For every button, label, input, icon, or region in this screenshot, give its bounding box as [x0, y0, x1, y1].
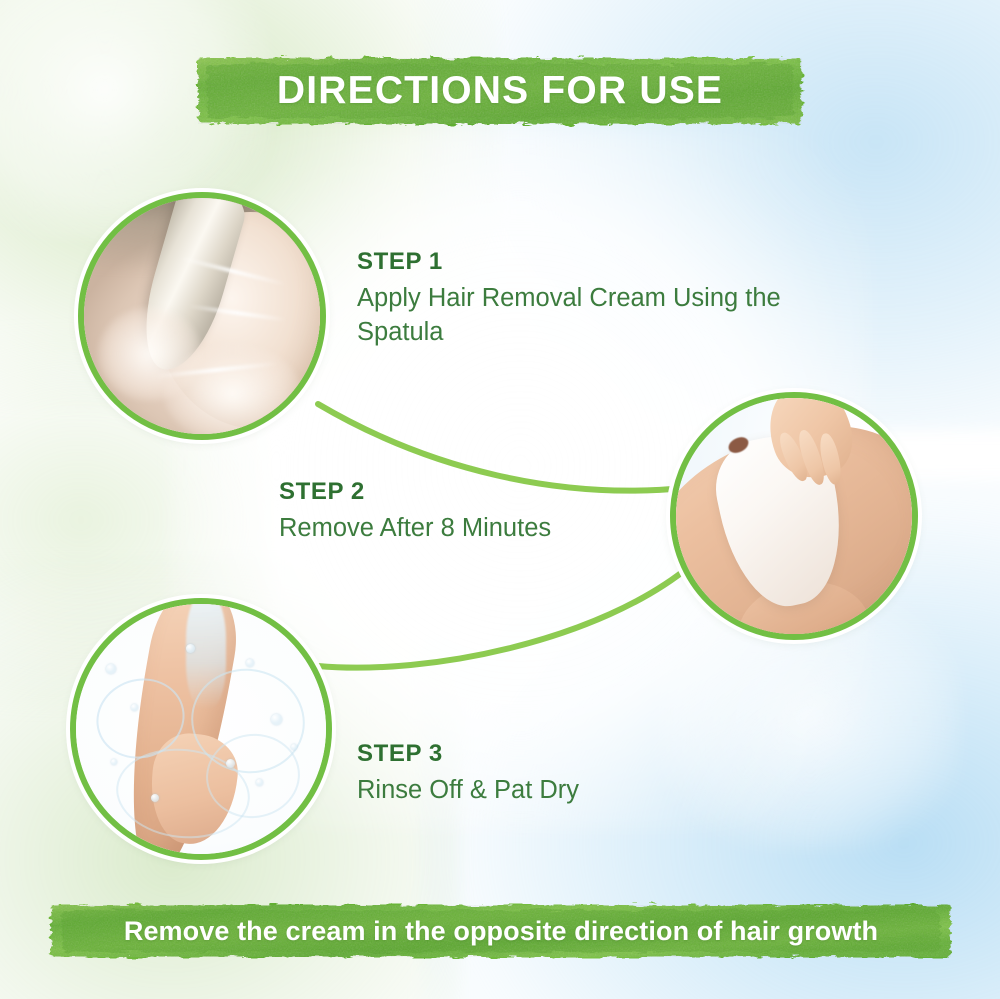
infographic-canvas: DIRECTIONS FOR USE STEP 1 Apply Hair Rem… [0, 0, 1000, 999]
water-drop-3 [246, 659, 254, 667]
water-drop-1 [106, 664, 116, 674]
step-2-text-block: STEP 2 Remove After 8 Minutes [279, 478, 699, 545]
step-1-text-block: STEP 1 Apply Hair Removal Cream Using th… [357, 248, 837, 349]
step-3-description: Rinse Off & Pat Dry [357, 773, 757, 807]
step-3-image-circle [70, 598, 332, 860]
cream-highlight-2 [164, 344, 301, 440]
water-drop-8 [256, 779, 263, 786]
water-drop-6 [151, 794, 159, 802]
step-3-text-block: STEP 3 Rinse Off & Pat Dry [357, 740, 757, 807]
water-drop-5 [226, 759, 235, 768]
water-drop-4 [271, 714, 282, 725]
step-2-number: STEP 2 [279, 478, 699, 506]
step-3-number: STEP 3 [357, 740, 757, 768]
cream-and-spatula-photo [84, 198, 320, 434]
footer-banner: Remove the cream in the opposite directi… [46, 900, 956, 962]
water-drop-10 [291, 744, 297, 750]
hands-rinsing-under-water-photo [76, 604, 326, 854]
water-drop-2 [131, 704, 138, 711]
header-banner: DIRECTIONS FOR USE [193, 52, 807, 130]
step-1-image-circle [78, 192, 326, 440]
water-drop-9 [186, 644, 195, 653]
header-title: DIRECTIONS FOR USE [277, 69, 723, 113]
step-1-description: Apply Hair Removal Cream Using the Spatu… [357, 281, 837, 349]
step-2-description: Remove After 8 Minutes [279, 511, 699, 545]
water-drop-7 [111, 759, 117, 765]
step-1-number: STEP 1 [357, 248, 837, 276]
step-2-image-circle [670, 392, 918, 640]
footer-note: Remove the cream in the opposite directi… [124, 916, 878, 947]
leg-with-cream-photo [676, 398, 912, 634]
